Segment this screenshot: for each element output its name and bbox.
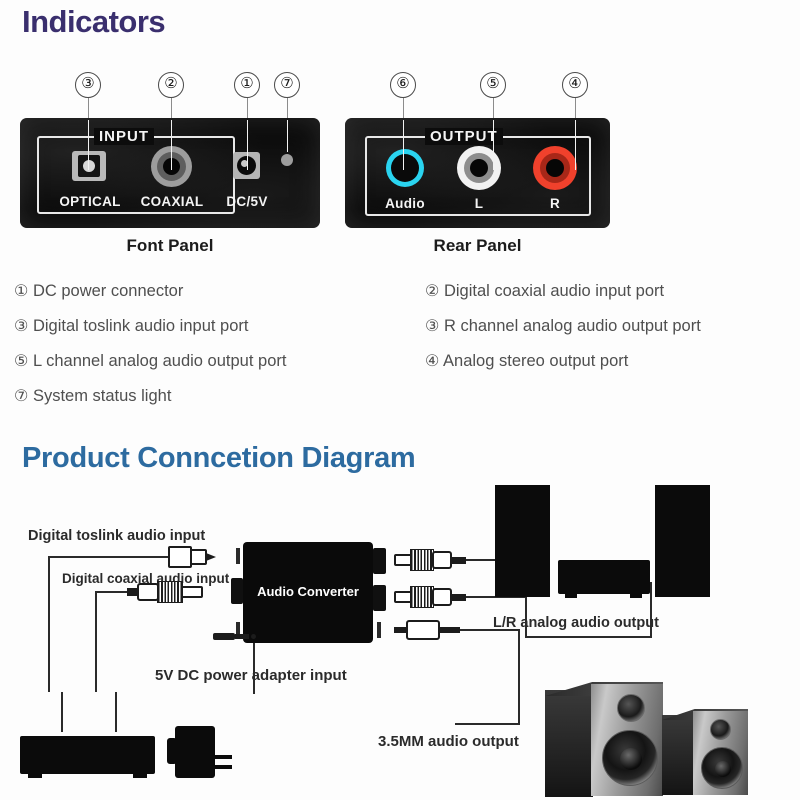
left-rca-hole: [470, 159, 488, 177]
product-indicator-sheet: Indicators ③ ② ① ⑦ INPUT OPTICAL COAXIAL…: [0, 0, 800, 800]
wire-coaxial-vertical: [95, 592, 97, 692]
bookshelf-speaker-small-dustcap: [715, 761, 731, 777]
converter-input-port-coaxial: [231, 578, 243, 604]
source-deck-device: [20, 736, 155, 774]
wire-coaxial-horizontal: [95, 591, 127, 593]
leader-line-7-inner: [287, 120, 289, 152]
leader-line-2-inner: [171, 120, 173, 170]
bookshelf-speaker-large-side: [545, 690, 593, 797]
bookshelf-speaker-small: [662, 703, 757, 798]
coaxial-plug: [127, 581, 203, 603]
legend-text-3: Digital toslink audio input port: [33, 317, 249, 335]
converter-input-port-optical: [236, 548, 240, 564]
optical-port-label: OPTICAL: [51, 194, 129, 209]
power-adapter: [175, 726, 215, 778]
leader-line-3: [88, 98, 89, 120]
power-adapter-prong-bottom: [214, 765, 232, 769]
output-plug-35mm-pin: [438, 627, 460, 633]
legend-item-7: ⑦ System status light: [14, 386, 171, 406]
audio-converter-label: Audio Converter: [243, 584, 373, 599]
tower-speaker-left: [495, 485, 550, 597]
legend-num-3: ③: [14, 318, 28, 335]
wire-35mm-end: [455, 723, 457, 725]
callout-2-front: ②: [158, 72, 184, 98]
legend-text-1: DC power connector: [33, 282, 183, 300]
output-plug-r-pin: [450, 594, 466, 601]
output-plug-35mm-body: [406, 620, 440, 640]
right-rca-label: R: [538, 196, 572, 211]
legend-num-7: ⑦: [14, 388, 28, 405]
toslink-plug-body: [168, 546, 192, 568]
coaxial-port-label: COAXIAL: [133, 194, 211, 209]
toslink-plug: [168, 546, 216, 568]
rear-panel-caption: Rear Panel: [345, 236, 610, 256]
output-plug-l-collar: [432, 551, 452, 569]
left-rca-jack: [457, 146, 501, 190]
coaxial-plug-tail: [181, 586, 203, 598]
wire-35mm-vertical: [518, 629, 520, 725]
toslink-plug-tip: [206, 553, 216, 561]
rear-output-group-label: OUTPUT: [425, 128, 503, 145]
legend-num-1: ①: [14, 283, 28, 300]
output-plug-r: [394, 586, 466, 608]
legend-item-3: ③ Digital toslink audio input port: [14, 316, 248, 336]
converter-output-port-r: [373, 585, 386, 611]
legend-item-4: ④ Analog stereo output port: [425, 351, 628, 371]
bookshelf-speaker-small-side: [662, 715, 694, 795]
legend-text-4: Analog stereo output port: [443, 352, 628, 370]
leader-line-2: [171, 98, 172, 120]
label-toslink-input: Digital toslink audio input: [28, 528, 205, 544]
wire-deck-left: [61, 692, 63, 732]
audio-jack-label: Audio: [377, 196, 433, 211]
dc-barrel-plug-tip: [251, 634, 256, 639]
wire-lr-to-amp: [525, 636, 652, 638]
bookshelf-speaker-large-dustcap: [620, 748, 642, 770]
callout-6-rear: ⑥: [390, 72, 416, 98]
tower-speaker-right: [655, 485, 710, 597]
bookshelf-speaker-small-woofer: [701, 747, 743, 789]
page-title-diagram: Product Conncetion Diagram: [22, 442, 415, 475]
output-plug-r-grip: [410, 586, 434, 608]
coaxial-plug-grip: [157, 581, 183, 603]
audio-converter-device: Audio Converter: [243, 542, 373, 643]
bookshelf-speaker-large: [545, 672, 675, 797]
front-input-group-label: INPUT: [94, 128, 154, 145]
amplifier-receiver: [558, 560, 650, 594]
dc-port-label: DC/5V: [216, 194, 278, 209]
wire-deck-right: [115, 692, 117, 732]
label-35mm-output: 3.5MM audio output: [378, 733, 519, 750]
leader-line-7: [287, 98, 288, 120]
output-plug-l-pin: [450, 557, 466, 564]
bookshelf-speaker-large-tweeter: [617, 694, 645, 722]
audio-35mm-jack: [386, 149, 424, 187]
legend-item-2: ② Digital coaxial audio input port: [425, 281, 664, 301]
legend-text-7: System status light: [33, 387, 171, 405]
wire-toslink-horizontal: [48, 556, 168, 558]
converter-output-port-jack: [377, 622, 381, 638]
leader-line-6: [403, 98, 404, 120]
source-deck-foot-left: [28, 774, 42, 778]
callout-4-rear: ④: [562, 72, 588, 98]
legend-text-5: L channel analog audio output port: [33, 352, 287, 370]
output-plug-35mm: [394, 620, 460, 640]
audio-jack-hole: [391, 154, 419, 182]
callout-3-front: ③: [75, 72, 101, 98]
legend-num-5: ⑤: [14, 353, 28, 370]
callout-1-front: ①: [234, 72, 260, 98]
dc-barrel-plug: [213, 630, 257, 642]
legend-num-4: ④: [425, 353, 439, 370]
label-dc-power-input: 5V DC power adapter input: [155, 667, 347, 684]
wire-toslink-vertical: [48, 557, 50, 692]
leader-line-1-inner: [247, 120, 249, 170]
coaxial-plug-collar: [137, 583, 159, 601]
amplifier-foot-right: [630, 594, 642, 598]
right-rca-hole: [546, 159, 564, 177]
legend-text-3r: R channel analog audio output port: [444, 317, 701, 335]
bookshelf-speaker-small-tweeter: [710, 719, 731, 740]
wire-35mm-horizontal: [459, 629, 519, 631]
output-plug-l: [394, 549, 466, 571]
leader-line-1: [247, 98, 248, 120]
leader-line-4: [575, 98, 576, 120]
legend-item-5: ⑤ L channel analog audio output port: [14, 351, 286, 371]
power-adapter-prong-top: [214, 755, 232, 759]
right-rca-jack: [533, 146, 577, 190]
legend-item-3r: ③ R channel analog audio output port: [425, 316, 701, 336]
rear-panel-device: OUTPUT Audio L R: [345, 118, 610, 228]
leader-line-4-inner: [575, 120, 577, 170]
left-rca-label: L: [462, 196, 496, 211]
amplifier-foot-left: [565, 594, 577, 598]
converter-output-port-l: [373, 548, 386, 574]
leader-line-6-inner: [403, 120, 405, 170]
output-plug-r-collar: [432, 588, 452, 606]
legend-item-1: ① DC power connector: [14, 281, 183, 301]
callout-5-rear: ⑤: [480, 72, 506, 98]
dc-barrel-plug-neck: [235, 634, 249, 639]
status-led: [281, 154, 293, 166]
front-panel-caption: Font Panel: [20, 236, 320, 256]
dc-barrel-plug-body: [213, 633, 235, 640]
leader-line-5-inner: [493, 120, 495, 170]
bookshelf-speaker-large-woofer: [602, 730, 658, 786]
legend-num-2: ②: [425, 283, 439, 300]
source-deck-foot-right: [133, 774, 147, 778]
power-adapter-side: [167, 738, 177, 764]
legend-num-3r: ③: [425, 318, 439, 335]
output-plug-l-grip: [410, 549, 434, 571]
leader-line-3-inner: [88, 120, 90, 170]
wire-35mm-to-label: [455, 723, 520, 725]
page-title-indicators: Indicators: [22, 4, 165, 40]
leader-line-5: [493, 98, 494, 120]
toslink-plug-neck: [190, 549, 207, 565]
callout-7-front: ⑦: [274, 72, 300, 98]
legend-text-2: Digital coaxial audio input port: [444, 282, 664, 300]
